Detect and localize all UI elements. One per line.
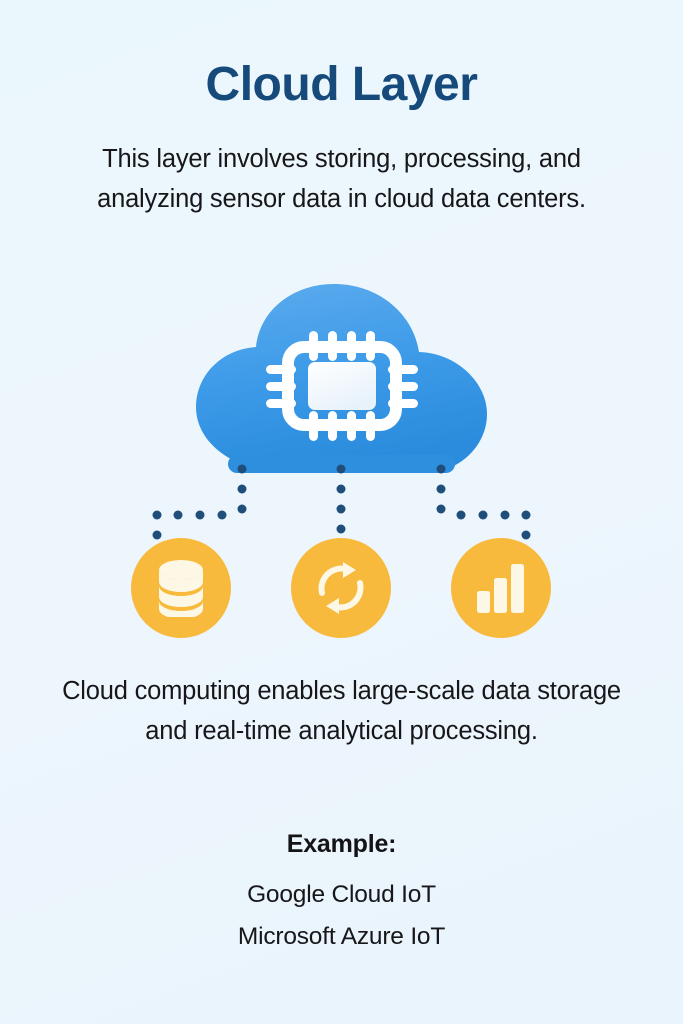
- feature-icon-row: [0, 538, 683, 638]
- analytics-icon: [475, 563, 527, 613]
- example-item-azure: Microsoft Azure IoT: [0, 916, 683, 958]
- sync-arrow-bottom: [326, 598, 339, 614]
- chip-core: [308, 362, 376, 410]
- example-label: Example:: [0, 830, 683, 859]
- sync-icon: [312, 559, 370, 617]
- cloud-icon: [188, 283, 495, 478]
- description-paragraph: Cloud computing enables large-scale data…: [60, 671, 623, 751]
- sync-icon-circle[interactable]: [291, 538, 391, 638]
- example-item-google: Google Cloud IoT: [0, 874, 683, 916]
- connector-dots: [153, 465, 531, 540]
- storage-icon-circle[interactable]: [131, 538, 231, 638]
- sync-arrow-top: [343, 562, 356, 578]
- infographic-card: Cloud Layer This layer involves storing,…: [0, 0, 683, 1024]
- example-list: Google Cloud IoT Microsoft Azure IoT: [0, 874, 683, 958]
- intro-paragraph: This layer involves storing, processing,…: [66, 139, 617, 219]
- analytics-icon-circle[interactable]: [451, 538, 551, 638]
- cloud-chip-graphic: [188, 283, 495, 478]
- page-title: Cloud Layer: [0, 57, 683, 112]
- storage-icon: [155, 559, 207, 617]
- cpu-chip-icon: [266, 331, 418, 441]
- dotted-connectors: [0, 462, 683, 542]
